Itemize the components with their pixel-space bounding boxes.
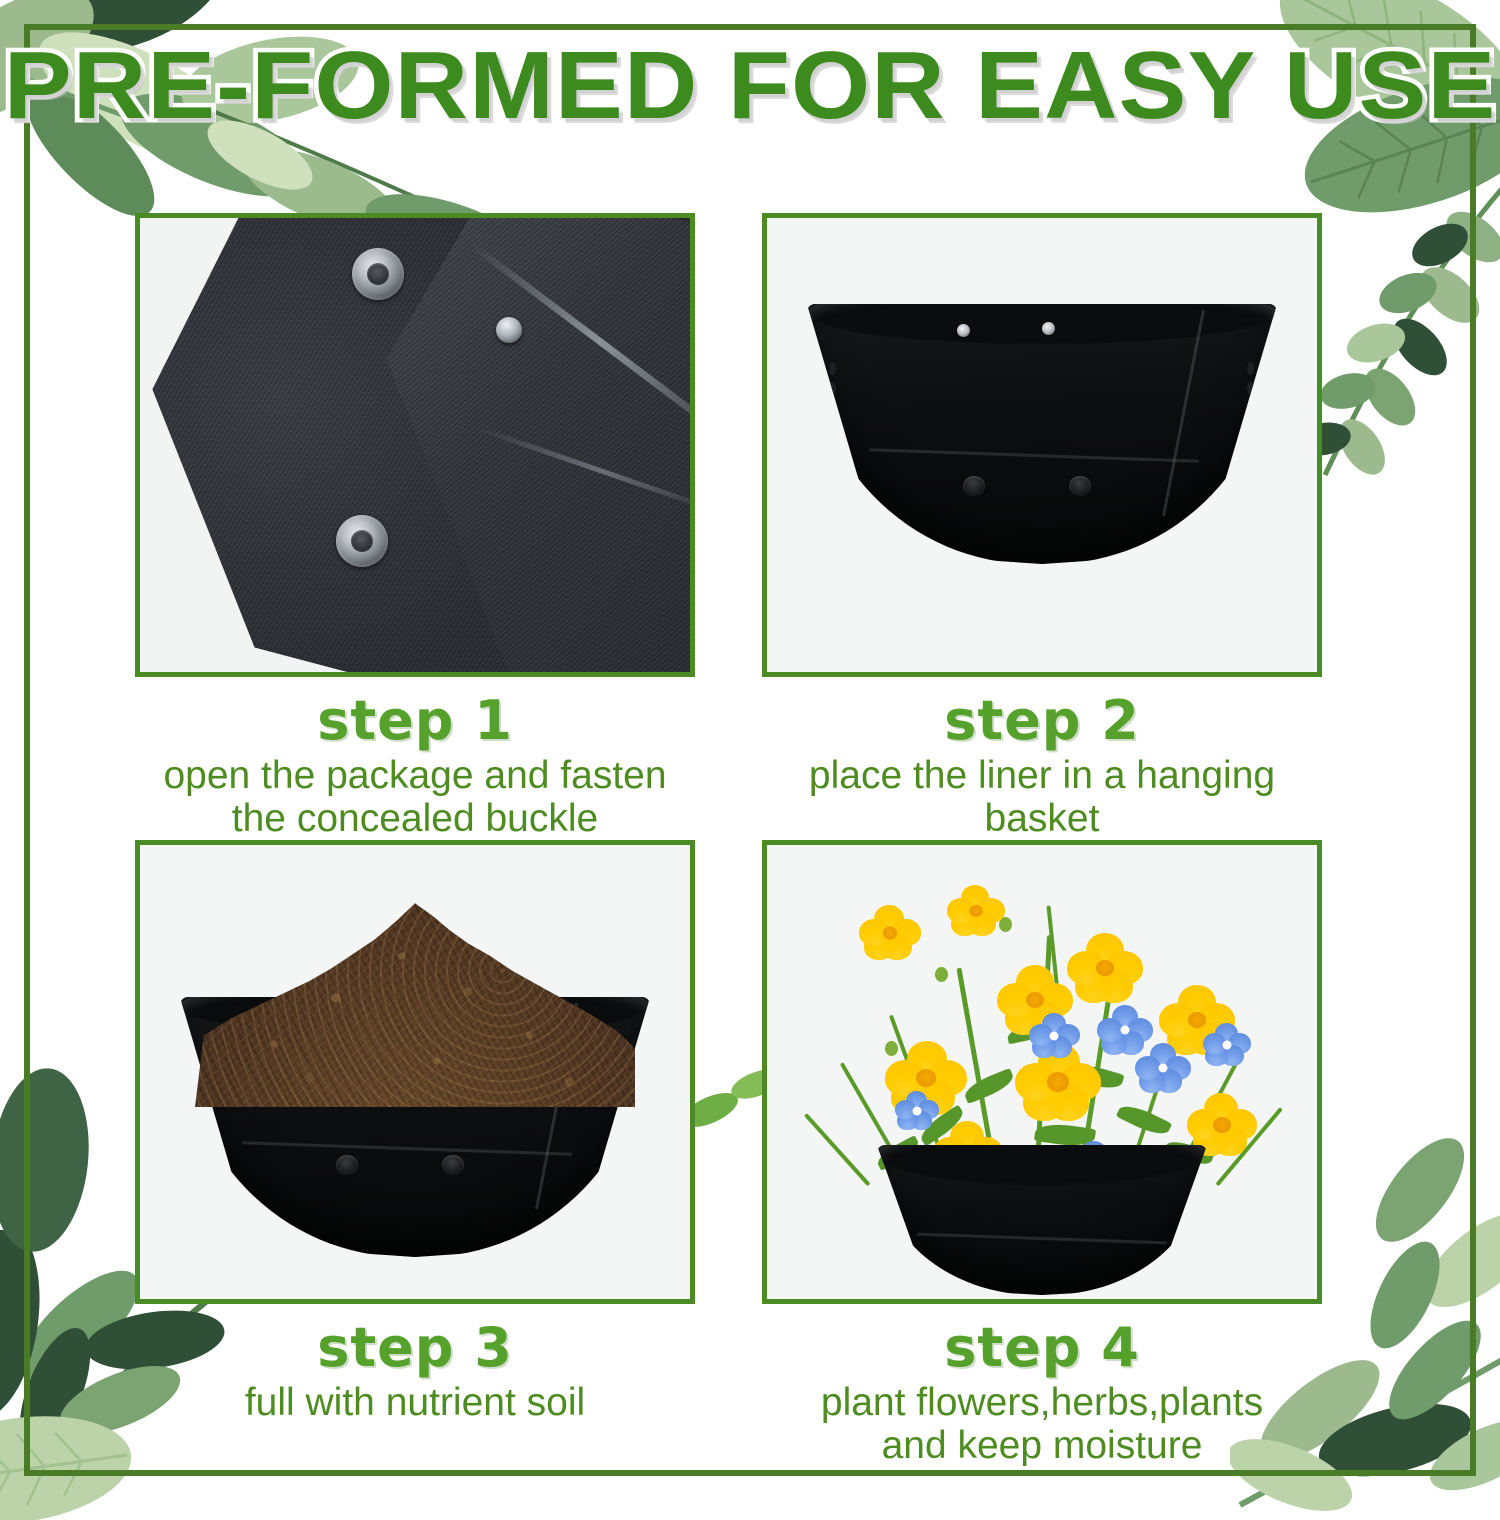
flower-center <box>1121 1026 1130 1035</box>
liner-fold <box>869 448 1199 463</box>
yellow-flower <box>859 905 921 961</box>
snap-stud-icon <box>496 317 522 343</box>
drainage-grommet-icon <box>442 1155 464 1175</box>
step-card-4: step 4 plant flowers,herbs,plants and ke… <box>762 840 1322 1468</box>
snap-button-icon <box>352 248 404 300</box>
flower-bud <box>935 967 948 982</box>
liner-fold <box>242 1141 572 1156</box>
step-4-description: plant flowers,herbs,plants and keep mois… <box>762 1381 1322 1468</box>
yellow-flower <box>947 885 1005 937</box>
step-3-caption: step 3 full with nutrient soil <box>135 1304 695 1424</box>
drainage-grommet-icon <box>1069 476 1091 496</box>
yellow-flower <box>1067 933 1143 1003</box>
flower-center <box>970 905 983 917</box>
flower-center <box>1223 1040 1232 1049</box>
blue-flower <box>1203 1023 1251 1066</box>
step-1-description: open the package and fasten the conceale… <box>135 754 695 841</box>
step-2-caption: step 2 place the liner in a hanging bask… <box>762 677 1322 841</box>
blue-flower <box>1135 1043 1191 1093</box>
foliage-leaf <box>962 1068 1017 1104</box>
liner-side-hole <box>829 362 836 375</box>
step-card-3: step 3 full with nutrient soil <box>135 840 695 1424</box>
flower-center <box>1047 1072 1069 1092</box>
snap-button-icon <box>336 515 388 567</box>
blue-flower <box>895 1091 939 1131</box>
step-2-label: step 2 <box>762 693 1322 750</box>
step-4-photo <box>762 840 1322 1304</box>
step-1-caption: step 1 open the package and fasten the c… <box>135 677 695 841</box>
step-1-label: step 1 <box>135 693 695 750</box>
flower-center <box>1159 1064 1168 1073</box>
step-1-photo <box>135 213 695 677</box>
drainage-grommet-icon <box>963 476 985 496</box>
drainage-grommet-icon <box>336 1155 358 1175</box>
step-3-photo <box>135 840 695 1304</box>
felt-liner-bowl <box>807 304 1277 564</box>
steps-grid: step 1 open the package and fasten the c… <box>135 213 1315 1453</box>
flower-center <box>1026 992 1044 1008</box>
step-card-2: step 2 place the liner in a hanging bask… <box>762 213 1322 841</box>
page-title: PRE-FORMED FOR EASY USE <box>4 38 1497 134</box>
flower-center <box>1096 960 1114 976</box>
liner-seam <box>1162 310 1205 517</box>
rivet-icon <box>1042 322 1055 335</box>
step-4-caption: step 4 plant flowers,herbs,plants and ke… <box>762 1304 1322 1468</box>
liner-side-hole <box>1247 362 1254 375</box>
blue-flower <box>1029 1013 1079 1058</box>
flower-center <box>1050 1031 1059 1040</box>
step-card-1: step 1 open the package and fasten the c… <box>135 213 695 841</box>
stem <box>804 1113 871 1186</box>
liner-side-hole <box>1247 382 1254 395</box>
flower-center <box>916 1069 936 1087</box>
flower-center <box>883 927 897 940</box>
leaf-sprig-left-middle <box>0 1060 150 1260</box>
page-title-container: PRE-FORMED FOR EASY USE <box>0 38 1500 134</box>
flower-center <box>1213 1117 1231 1133</box>
petal <box>1135 1056 1161 1080</box>
liner-side-hole <box>829 382 836 395</box>
step-3-label: step 3 <box>135 1320 695 1377</box>
step-4-label: step 4 <box>762 1320 1322 1377</box>
flower-center <box>913 1107 922 1116</box>
petal <box>1097 1018 1123 1042</box>
rivet-icon <box>957 324 970 337</box>
leaf-cluster-right-middle <box>1350 1130 1500 1350</box>
step-3-description: full with nutrient soil <box>135 1381 695 1425</box>
liner-fold <box>917 1233 1167 1245</box>
step-2-photo <box>762 213 1322 677</box>
step-2-description: place the liner in a hanging basket <box>762 754 1322 841</box>
